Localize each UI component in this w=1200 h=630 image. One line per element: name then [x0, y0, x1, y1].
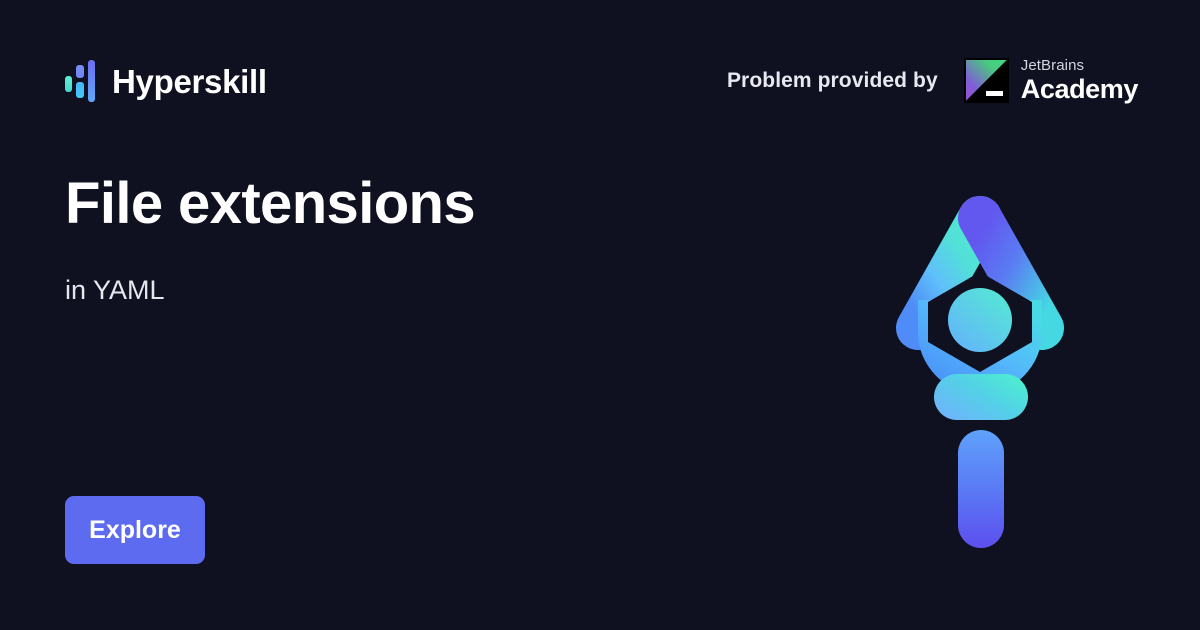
logo-bar-3: [76, 82, 84, 98]
page-header: Hyperskill Problem provided by JetBrains…: [0, 0, 1200, 140]
page-title: File extensions: [65, 172, 475, 236]
hyperskill-brand[interactable]: Hyperskill: [65, 60, 267, 102]
yaml-center-dot: [948, 288, 1012, 352]
jetbrains-academy-wordmark: JetBrains Academy: [1021, 58, 1138, 103]
academy-word: Academy: [1021, 76, 1138, 103]
provider-label: Problem provided by: [727, 69, 938, 93]
logo-bar-1: [65, 76, 72, 92]
jetbrains-square-icon: [964, 58, 1009, 103]
yaml-vertical-stem: [958, 430, 1004, 548]
hyperskill-bars-icon: [65, 60, 95, 102]
yaml-horizontal-pill: [934, 374, 1028, 420]
provider-attribution: Problem provided by JetBrains Academy: [727, 58, 1138, 103]
jetbrains-dash-mark: [986, 91, 1003, 96]
jetbrains-word: JetBrains: [1021, 58, 1084, 73]
jetbrains-academy-logo[interactable]: JetBrains Academy: [964, 58, 1138, 103]
explore-button[interactable]: Explore: [65, 496, 205, 564]
logo-bar-4: [88, 60, 95, 102]
page-subtitle: in YAML: [65, 276, 165, 306]
hyperskill-brand-name: Hyperskill: [112, 65, 267, 98]
logo-bar-2: [76, 65, 84, 78]
yaml-logo-icon: [880, 180, 1090, 560]
